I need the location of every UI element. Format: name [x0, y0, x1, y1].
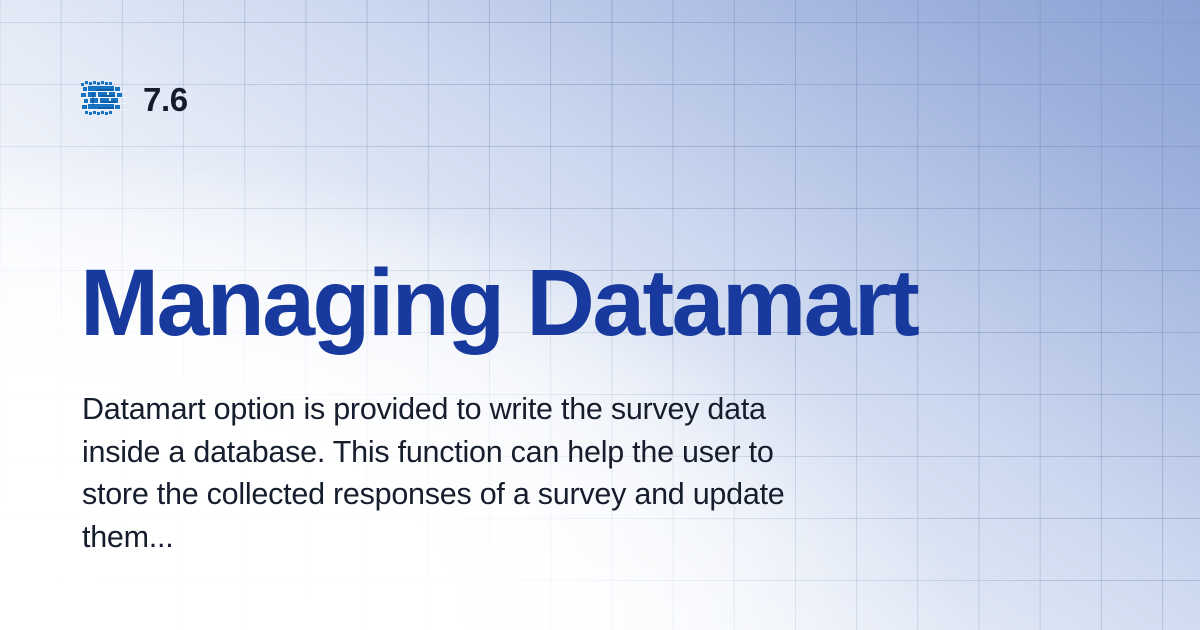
- card-content: 7.6 Managing Datamart Datamart option is…: [0, 0, 1200, 630]
- limesurvey-logo-icon: [80, 80, 126, 118]
- brand-row: 7.6: [80, 80, 188, 118]
- social-share-card: 7.6 Managing Datamart Datamart option is…: [0, 0, 1200, 630]
- product-version-label: 7.6: [143, 83, 188, 116]
- page-description: Datamart option is provided to write the…: [82, 388, 842, 558]
- page-title: Managing Datamart: [80, 256, 917, 351]
